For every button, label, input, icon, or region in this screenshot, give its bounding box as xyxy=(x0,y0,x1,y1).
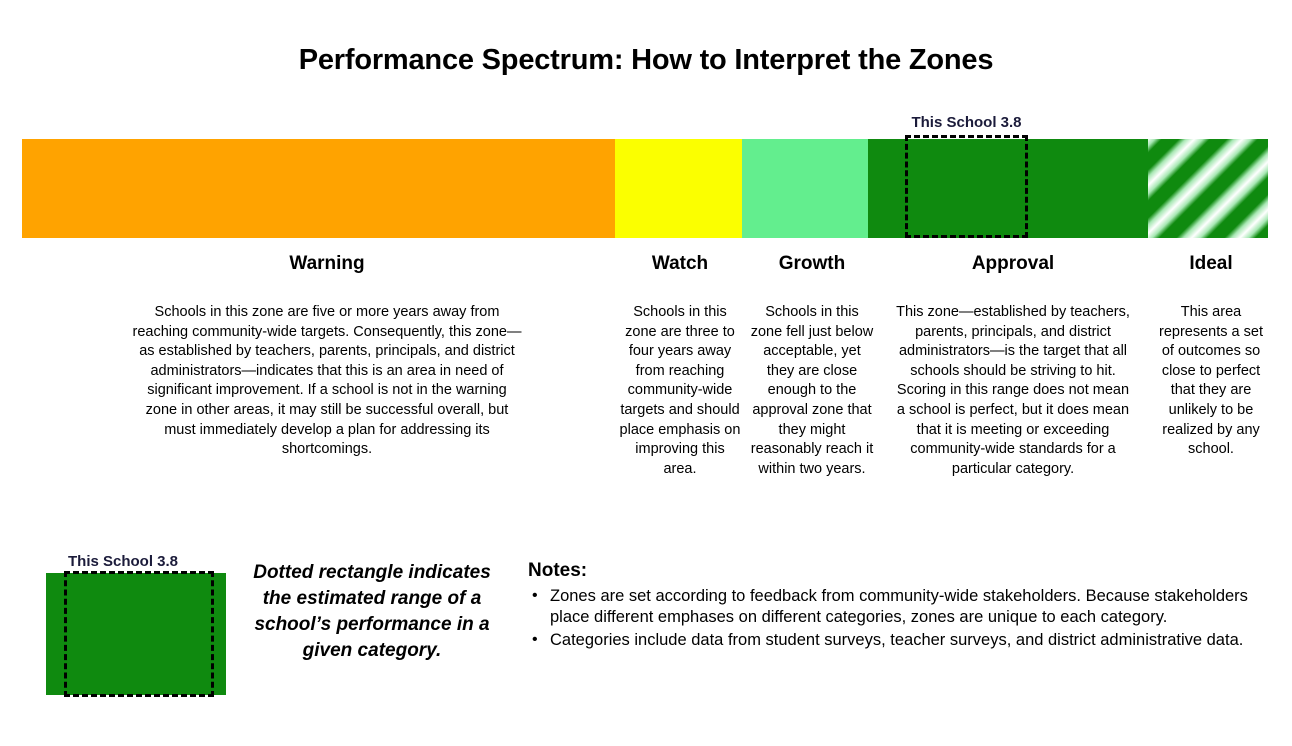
notes-list: •Zones are set according to feedback fro… xyxy=(528,586,1248,651)
spectrum-zone-warning xyxy=(22,139,615,238)
legend-dotted-rectangle xyxy=(64,571,214,697)
zone-header-warning: Warning xyxy=(132,252,522,276)
spectrum-zone-growth xyxy=(742,139,868,238)
zone-column-growth: GrowthSchools in this zone fell just bel… xyxy=(749,252,875,479)
notes-section: Notes: •Zones are set according to feedb… xyxy=(528,560,1248,653)
notes-item: •Zones are set according to feedback fro… xyxy=(528,586,1248,628)
spectrum-zone-watch xyxy=(615,139,742,238)
spectrum-marker-label: This School 3.8 xyxy=(905,114,1028,131)
notes-item-text: Categories include data from student sur… xyxy=(550,631,1243,649)
legend-description: Dotted rectangle indicates the estimated… xyxy=(252,560,492,664)
page-title: Performance Spectrum: How to Interpret t… xyxy=(0,44,1292,77)
zone-column-ideal: IdealThis area represents a set of outco… xyxy=(1157,252,1265,460)
zone-header-growth: Growth xyxy=(749,252,875,276)
bullet-icon: • xyxy=(532,585,538,606)
zone-description-watch: Schools in this zone are three to four y… xyxy=(618,303,742,479)
zone-description-warning: Schools in this zone are five or more ye… xyxy=(132,303,522,460)
zone-column-warning: WarningSchools in this zone are five or … xyxy=(132,252,522,460)
zone-column-watch: WatchSchools in this zone are three to f… xyxy=(618,252,742,479)
notes-item-text: Zones are set according to feedback from… xyxy=(550,587,1248,626)
spectrum-bar xyxy=(22,139,1268,238)
zone-description-approval: This zone—established by teachers, paren… xyxy=(893,303,1133,479)
spectrum-marker-rectangle xyxy=(905,135,1028,238)
notes-item: •Categories include data from student su… xyxy=(528,630,1248,651)
spectrum-zone-ideal xyxy=(1148,139,1268,238)
zone-header-watch: Watch xyxy=(618,252,742,276)
zone-column-approval: ApprovalThis zone—established by teacher… xyxy=(893,252,1133,479)
zone-description-growth: Schools in this zone fell just below acc… xyxy=(749,303,875,479)
zone-header-ideal: Ideal xyxy=(1157,252,1265,276)
legend-marker-label: This School 3.8 xyxy=(68,553,178,570)
zone-header-approval: Approval xyxy=(893,252,1133,276)
performance-spectrum-infographic: Performance Spectrum: How to Interpret t… xyxy=(0,0,1292,746)
zone-description-ideal: This area represents a set of outcomes s… xyxy=(1157,303,1265,460)
notes-title: Notes: xyxy=(528,560,1248,582)
bullet-icon: • xyxy=(532,629,538,650)
